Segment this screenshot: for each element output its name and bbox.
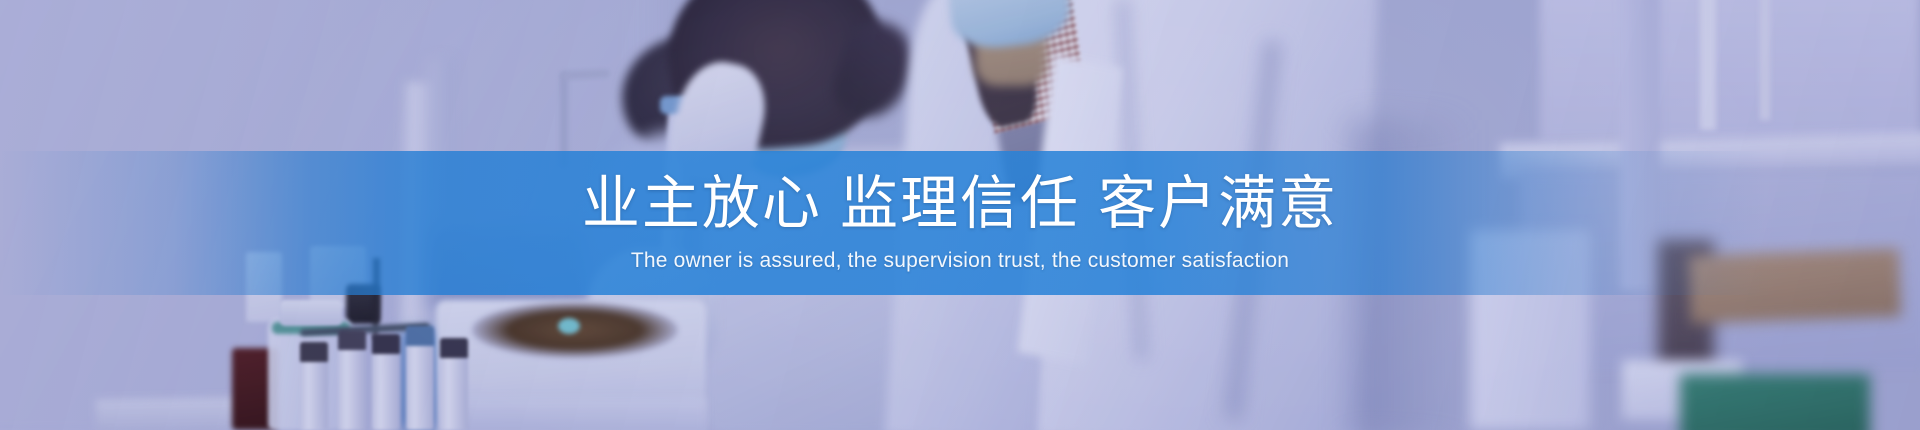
banner-headline: 业主放心 监理信任 客户满意 [0,173,1920,236]
banner-subheadline: The owner is assured, the supervision tr… [0,248,1920,273]
caption-band: 业主放心 监理信任 客户满意 The owner is assured, the… [0,151,1920,295]
caption-content: 业主放心 监理信任 客户满意 The owner is assured, the… [0,173,1920,273]
hero-banner: 业主放心 监理信任 客户满意 The owner is assured, the… [0,0,1920,430]
